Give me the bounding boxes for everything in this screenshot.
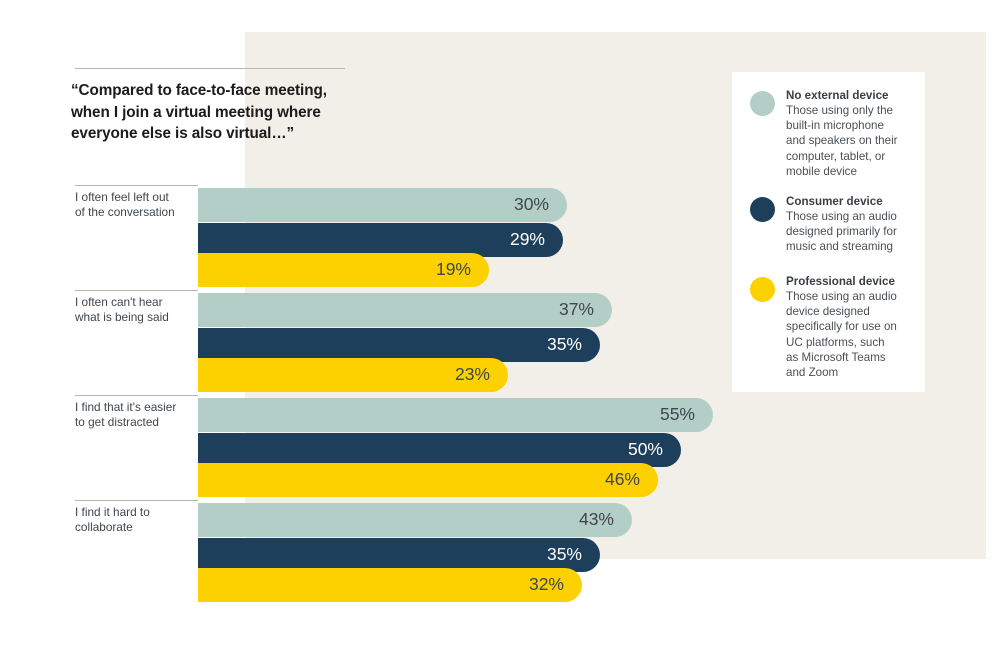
- bar-value-label: 50%: [628, 441, 681, 459]
- category-divider: [75, 395, 198, 396]
- bar-value-label: 43%: [579, 511, 632, 529]
- bar-3-0: 43%: [198, 503, 632, 537]
- legend-item-description: Those using only the built-in microphone…: [786, 103, 914, 179]
- bar-value-label: 23%: [455, 366, 508, 384]
- legend-item-title: No external device: [786, 88, 914, 103]
- legend-item-description: Those using an audio designed primarily …: [786, 209, 914, 255]
- category-label-0: I often feel left out of the conversatio…: [75, 190, 200, 220]
- category-label-2: I find that it's easier to get distracte…: [75, 400, 200, 430]
- legend-item-consumer-device[interactable]: Consumer device Those using an audio des…: [732, 194, 925, 255]
- bar-1-0: 37%: [198, 293, 612, 327]
- bar-value-label: 30%: [514, 196, 567, 214]
- bar-0-0: 30%: [198, 188, 567, 222]
- bar-0-1: 29%: [198, 223, 563, 257]
- chart-canvas: “Compared to face-to-face meeting, when …: [0, 0, 1000, 654]
- bar-1-1: 35%: [198, 328, 600, 362]
- bar-value-label: 35%: [547, 546, 600, 564]
- bar-value-label: 46%: [605, 471, 658, 489]
- legend: No external device Those using only the …: [732, 72, 925, 392]
- bar-3-2: 32%: [198, 568, 582, 602]
- bar-2-1: 50%: [198, 433, 681, 467]
- category-label-3: I find it hard to collaborate: [75, 505, 200, 535]
- bar-value-label: 32%: [529, 576, 582, 594]
- legend-item-title: Consumer device: [786, 194, 914, 209]
- category-label-1: I often can't hear what is being said: [75, 295, 200, 325]
- legend-item-no-external-device[interactable]: No external device Those using only the …: [732, 88, 925, 179]
- legend-swatch-icon: [750, 91, 775, 116]
- bar-value-label: 35%: [547, 336, 600, 354]
- bar-0-2: 19%: [198, 253, 489, 287]
- legend-item-professional-device[interactable]: Professional device Those using an audio…: [732, 274, 925, 380]
- bar-value-label: 19%: [436, 261, 489, 279]
- legend-swatch-icon: [750, 277, 775, 302]
- page-title: “Compared to face-to-face meeting, when …: [71, 80, 401, 145]
- bar-value-label: 55%: [660, 406, 713, 424]
- legend-item-description: Those using an audio device designed spe…: [786, 289, 914, 380]
- category-divider: [75, 500, 198, 501]
- bar-1-2: 23%: [198, 358, 508, 392]
- bar-3-1: 35%: [198, 538, 600, 572]
- bar-2-0: 55%: [198, 398, 713, 432]
- legend-item-title: Professional device: [786, 274, 914, 289]
- bar-value-label: 37%: [559, 301, 612, 319]
- bar-2-2: 46%: [198, 463, 658, 497]
- legend-swatch-icon: [750, 197, 775, 222]
- title-divider: [75, 68, 345, 69]
- category-divider: [75, 290, 198, 291]
- bar-value-label: 29%: [510, 231, 563, 249]
- category-divider: [75, 185, 198, 186]
